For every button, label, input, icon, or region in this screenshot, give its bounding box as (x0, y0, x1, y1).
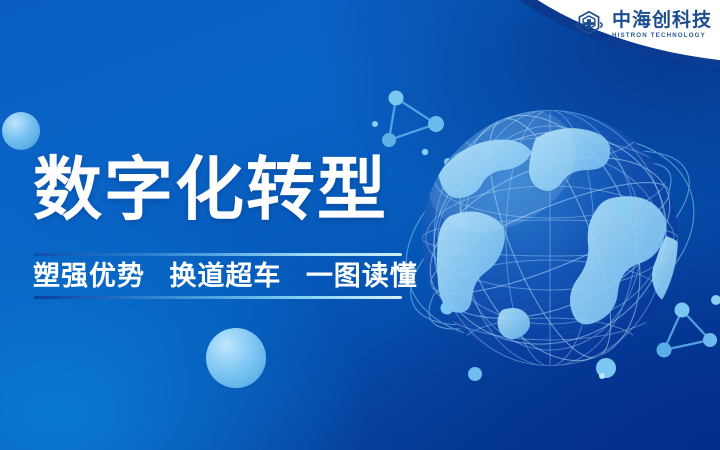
brand-name-en: HISTRON TECHNOLOGY (612, 33, 712, 39)
brand-logo[interactable]: 中海创科技 HISTRON TECHNOLOGY (572, 8, 712, 42)
divider-top (34, 253, 402, 256)
gradient-sphere-icon (206, 328, 266, 388)
page-subtitle: 塑强优势 换道超车 一图读懂 (33, 260, 418, 294)
subtitle-segment-2: 换道超车 (169, 261, 281, 292)
digital-transformation-banner: 中海创科技 HISTRON TECHNOLOGY (0, 0, 720, 450)
gradient-sphere-icon (2, 112, 40, 150)
divider-bottom (34, 296, 402, 299)
subtitle-segment-1: 塑强优势 (33, 261, 145, 292)
brand-name-cn: 中海创科技 (612, 11, 712, 30)
subtitle-segment-3: 一图读懂 (306, 261, 418, 292)
brand-text: 中海创科技 HISTRON TECHNOLOGY (612, 11, 712, 39)
histron-hexagon-logo-icon (572, 8, 606, 42)
page-title: 数字化转型 (33, 156, 388, 225)
wireframe-globe-icon (398, 78, 716, 408)
